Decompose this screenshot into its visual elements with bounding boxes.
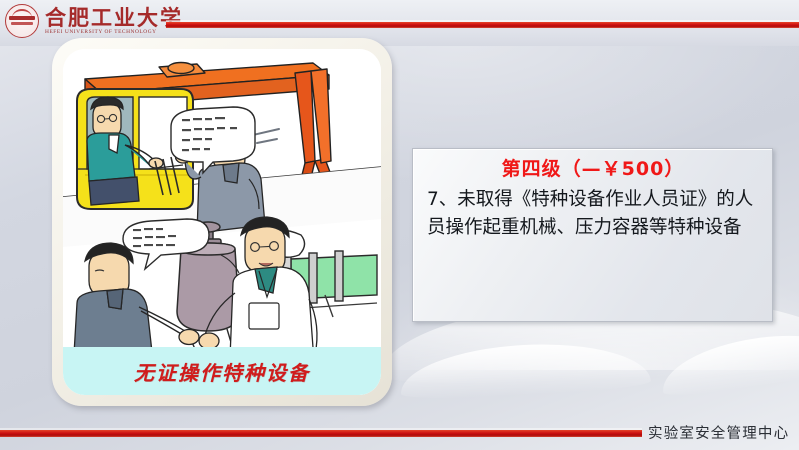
footer-accent-rule (0, 430, 642, 437)
university-seal-icon (4, 3, 40, 39)
slide-canvas: 合肥工业大学 HEFEI UNIVERSITY OF TECHNOLOGY (0, 0, 799, 450)
university-name-cn: 合肥工业大学 (45, 7, 183, 28)
background-swoosh-left (399, 338, 651, 401)
violation-description: 7、未取得《特种设备作业人员证》的人员操作起重机械、压力容器等特种设备 (427, 186, 759, 243)
background-swoosh-right (658, 324, 799, 399)
illustration-caption: 无证操作特种设备 (134, 357, 310, 386)
illustration-image: 无证操作特种设备 (63, 49, 381, 395)
university-name-en: HEFEI UNIVERSITY OF TECHNOLOGY (45, 30, 183, 35)
violation-level-title: 第四级（—￥500） (427, 158, 759, 182)
content-text-panel: 第四级（—￥500） 7、未取得《特种设备作业人员证》的人员操作起重机械、压力容… (412, 148, 773, 322)
cartoon-illustration-svg (63, 49, 381, 395)
footer-organization: 实验室安全管理中心 (648, 422, 789, 443)
illustration-caption-band: 无证操作特种设备 (63, 347, 381, 395)
header-accent-rule (166, 22, 799, 28)
university-logo: 合肥工业大学 HEFEI UNIVERSITY OF TECHNOLOGY (4, 1, 183, 41)
illustration-card: 无证操作特种设备 (52, 38, 392, 406)
